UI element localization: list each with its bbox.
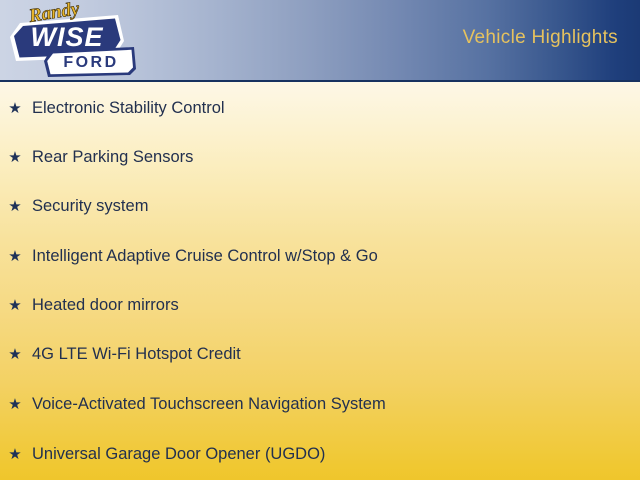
list-item: ★ Intelligent Adaptive Cruise Control w/…: [8, 244, 378, 268]
list-item: ★ Rear Parking Sensors: [8, 145, 193, 169]
star-icon: ★: [8, 249, 22, 264]
list-item: ★ Electronic Stability Control: [8, 96, 225, 120]
list-item: ★ Voice-Activated Touchscreen Navigation…: [8, 392, 386, 416]
vehicle-highlights-list: ★ Electronic Stability Control ★ Rear Pa…: [0, 82, 640, 480]
star-icon: ★: [8, 199, 22, 214]
list-item-label: Heated door mirrors: [32, 297, 179, 314]
page-title: Vehicle Highlights: [463, 27, 618, 49]
list-item-label: Universal Garage Door Opener (UGDO): [32, 446, 325, 463]
list-item-label: Security system: [32, 198, 148, 215]
vehicle-highlights-slide: WISE FORD Randy Vehicle Highlights ★ Ele…: [0, 0, 640, 480]
list-item: ★ Universal Garage Door Opener (UGDO): [8, 442, 325, 466]
star-icon: ★: [8, 347, 22, 362]
list-item: ★ Security system: [8, 194, 148, 218]
list-item-label: Voice-Activated Touchscreen Navigation S…: [32, 396, 386, 413]
list-item-label: Intelligent Adaptive Cruise Control w/St…: [32, 248, 378, 265]
star-icon: ★: [8, 397, 22, 412]
logo-wise-text: WISE: [30, 22, 103, 52]
star-icon: ★: [8, 298, 22, 313]
star-icon: ★: [8, 101, 22, 116]
list-item: ★ Heated door mirrors: [8, 293, 179, 317]
list-item-label: 4G LTE Wi-Fi Hotspot Credit: [32, 346, 241, 363]
list-item-label: Rear Parking Sensors: [32, 149, 193, 166]
star-icon: ★: [8, 150, 22, 165]
dealer-logo: WISE FORD Randy: [6, 1, 138, 79]
list-item-label: Electronic Stability Control: [32, 100, 225, 117]
logo-ford-text: FORD: [63, 54, 118, 71]
list-item: ★ 4G LTE Wi-Fi Hotspot Credit: [8, 342, 241, 366]
star-icon: ★: [8, 447, 22, 462]
header-banner: WISE FORD Randy Vehicle Highlights: [0, 0, 640, 82]
